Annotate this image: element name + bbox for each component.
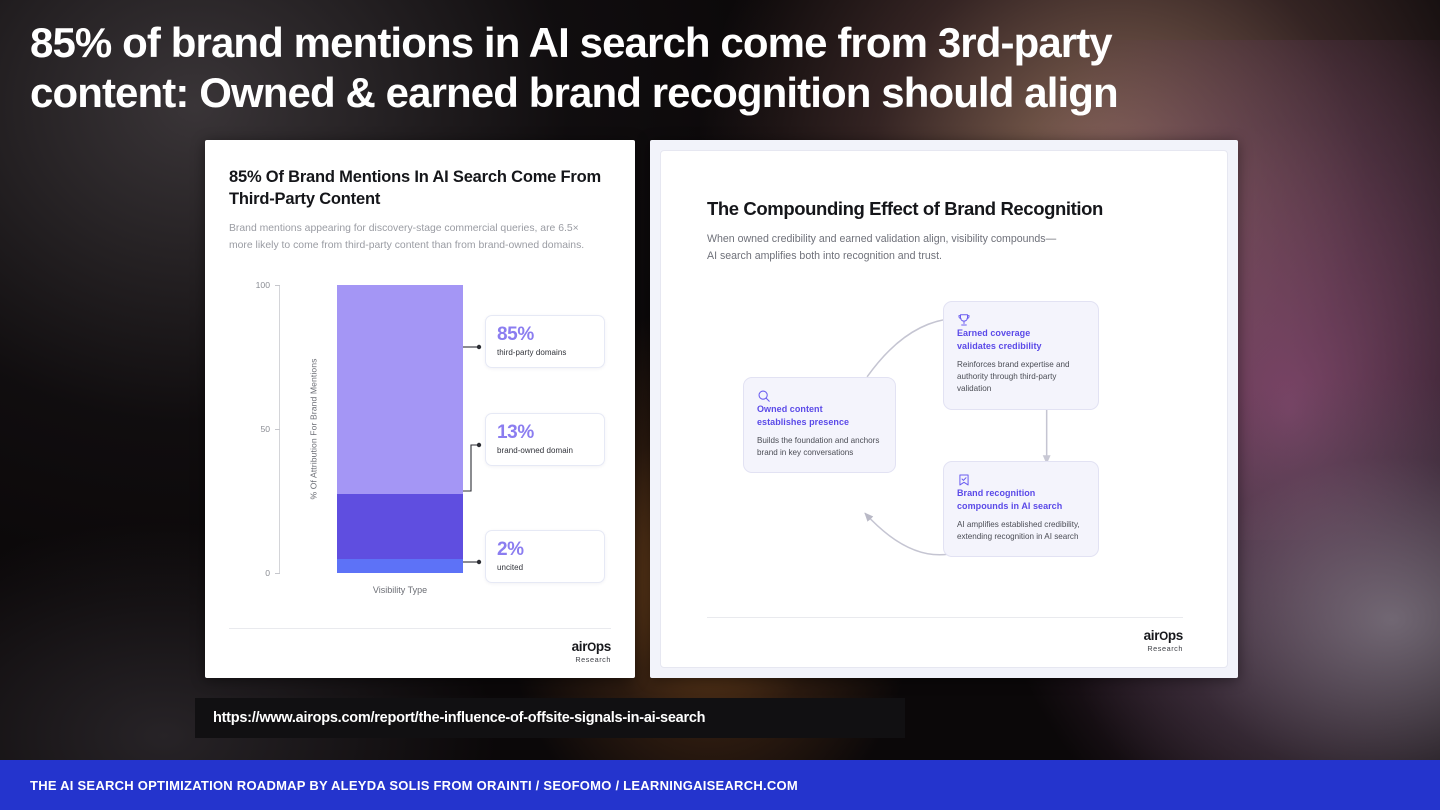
y-tick-label-100: 100 (256, 280, 270, 290)
slide-footer-bar: THE AI SEARCH OPTIMIZATION ROADMAP BY AL… (0, 760, 1440, 810)
source-url-text: https://www.airops.com/report/the-influe… (213, 710, 705, 726)
callout-brand-owned-value: 13% (497, 423, 593, 443)
airops-logo-ps-right: ps (1168, 628, 1183, 643)
airops-logo-subtitle: Research (572, 655, 611, 664)
diagram-node-owned-content: Owned content establishes presence Build… (743, 377, 896, 473)
callout-brand-owned-label: brand-owned domain (497, 446, 593, 455)
diagram-card-title: The Compounding Effect of Brand Recognit… (707, 198, 1183, 220)
diagram-node-earned-desc: Reinforces brand expertise and authority… (957, 359, 1086, 396)
callout-brand-owned: 13% brand-owned domain (485, 413, 605, 466)
diagram-node-brand-title: Brand recognition compounds in AI search (957, 487, 1086, 513)
y-tick-0 (275, 573, 280, 574)
airops-wordmark: airOps (572, 639, 611, 654)
airops-logo: airOps Research (572, 639, 611, 664)
headline-line-2: content: Owned & earned brand recognitio… (30, 68, 1410, 118)
diagram-card-inner: The Compounding Effect of Brand Recognit… (660, 150, 1228, 668)
earned-title-line-2: validates credibility (957, 341, 1042, 351)
airops-logo-o-right: O (1159, 631, 1168, 643)
airops-logo-right: airOps Research (1144, 628, 1183, 653)
diagram-node-brand-desc: AI amplifies established credibility, ex… (957, 519, 1086, 544)
callout-uncited-label: uncited (497, 563, 593, 572)
diagram-card-description: When owned credibility and earned valida… (707, 231, 1183, 265)
search-icon (757, 389, 883, 403)
airops-logo-o: O (587, 642, 596, 654)
headline-line-1: 85% of brand mentions in AI search come … (30, 18, 1410, 68)
diagram-description-line-1: When owned credibility and earned valida… (707, 233, 1056, 245)
chart-card-description: Brand mentions appearing for discovery-s… (229, 221, 589, 255)
bookmark-check-icon (957, 473, 1086, 487)
slide-headline: 85% of brand mentions in AI search come … (30, 18, 1410, 117)
callout-third-party-value: 85% (497, 325, 593, 345)
diagram-card-footer: airOps Research (707, 617, 1183, 653)
chart-card: 85% Of Brand Mentions In AI Search Come … (205, 140, 635, 678)
compounding-effect-diagram: Owned content establishes presence Build… (707, 273, 1183, 617)
bar-chart: % Of Attribution For Brand Mentions 100 … (229, 271, 611, 624)
x-axis-title: Visibility Type (337, 585, 463, 595)
y-tick-label-50: 50 (260, 424, 270, 434)
diagram-description-line-2: AI search amplifies both into recognitio… (707, 250, 942, 262)
airops-logo-subtitle-right: Research (1144, 644, 1183, 653)
diagram-node-earned-coverage: Earned coverage validates credibility Re… (943, 301, 1099, 409)
brand-title-line-1: Brand recognition (957, 488, 1035, 498)
brand-title-line-2: compounds in AI search (957, 501, 1062, 511)
callout-uncited-value: 2% (497, 540, 593, 560)
chart-card-title: 85% Of Brand Mentions In AI Search Come … (229, 166, 611, 210)
diagram-node-owned-desc: Builds the foundation and anchors brand … (757, 435, 883, 460)
earned-title-line-1: Earned coverage (957, 328, 1030, 338)
diagram-card: The Compounding Effect of Brand Recognit… (650, 140, 1238, 678)
callout-third-party: 85% third-party domains (485, 315, 605, 368)
diagram-node-owned-title: Owned content establishes presence (757, 403, 883, 429)
callout-third-party-label: third-party domains (497, 348, 593, 357)
diagram-node-earned-title: Earned coverage validates credibility (957, 327, 1086, 353)
y-tick-label-0: 0 (265, 568, 270, 578)
owned-title-line-2: establishes presence (757, 417, 849, 427)
airops-logo-air-right: air (1144, 628, 1160, 643)
source-url-bar[interactable]: https://www.airops.com/report/the-influe… (195, 698, 905, 738)
chart-plot-area: % Of Attribution For Brand Mentions 100 … (279, 285, 609, 573)
diagram-node-brand-recognition: Brand recognition compounds in AI search… (943, 461, 1099, 557)
airops-logo-ps: ps (596, 639, 611, 654)
airops-wordmark-right: airOps (1144, 628, 1183, 643)
arrow-owned-to-earned (867, 319, 954, 377)
chart-card-footer: airOps Research (229, 628, 611, 664)
airops-logo-air: air (572, 639, 588, 654)
trophy-icon (957, 313, 1086, 327)
slide-footer-text: THE AI SEARCH OPTIMIZATION ROADMAP BY AL… (30, 778, 798, 793)
owned-title-line-1: Owned content (757, 404, 823, 414)
callout-uncited: 2% uncited (485, 530, 605, 583)
